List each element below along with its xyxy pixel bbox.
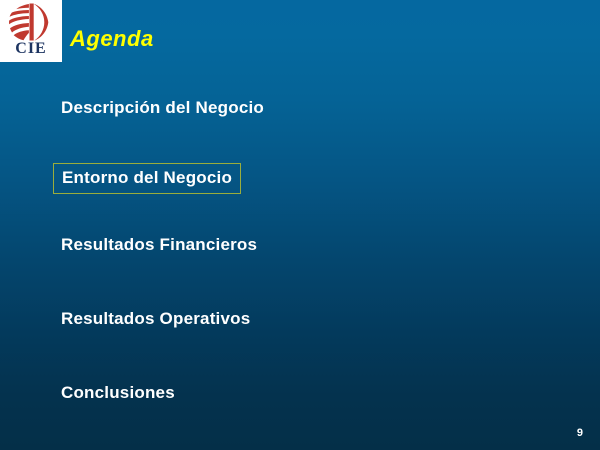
- agenda-item-resultados-operativos[interactable]: Resultados Operativos: [61, 309, 250, 329]
- agenda-list: Descripción del Negocio Entorno del Nego…: [0, 0, 600, 450]
- page-number: 9: [577, 427, 583, 439]
- agenda-item-resultados-financieros[interactable]: Resultados Financieros: [61, 235, 257, 255]
- agenda-item-entorno-del-negocio[interactable]: Entorno del Negocio: [53, 163, 241, 194]
- presentation-slide: CIE Agenda Descripción del Negocio Entor…: [0, 0, 600, 450]
- agenda-item-conclusiones[interactable]: Conclusiones: [61, 383, 175, 403]
- agenda-item-descripcion-del-negocio[interactable]: Descripción del Negocio: [61, 98, 264, 118]
